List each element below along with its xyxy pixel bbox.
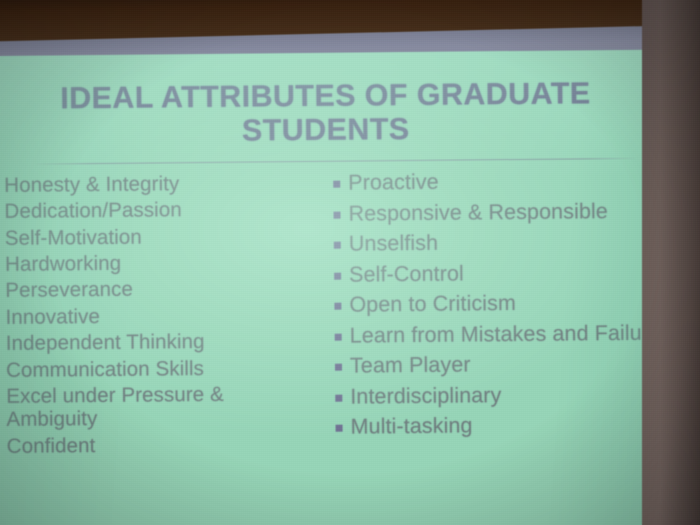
- wall-right-shadow: [660, 0, 700, 525]
- list-item-label: Innovative: [5, 305, 100, 329]
- list-item-label: Responsive & Responsible: [348, 199, 608, 226]
- list-item-label: Open to Criticism: [349, 291, 516, 317]
- bullet-square-icon: [334, 272, 341, 279]
- list-item-label: Independent Thinking: [6, 330, 205, 355]
- list-item-label: Hardworking: [5, 252, 121, 276]
- list-item: Dedication/Passion: [0, 197, 312, 223]
- projected-slide-photo: IDEAL ATTRIBUTES OF GRADUATE STUDENTS Ho…: [0, 0, 700, 525]
- list-item: Confident: [0, 432, 314, 458]
- list-item: Self-Motivation: [0, 224, 312, 250]
- list-item: Team Player: [335, 350, 673, 378]
- list-item-label: Multi-tasking: [350, 413, 472, 439]
- list-item-label: Excel under Pressure & Ambiguity: [6, 382, 313, 432]
- list-item: Hardworking: [0, 250, 312, 276]
- list-item-label: Confident: [7, 434, 96, 458]
- list-item-label: Perseverance: [5, 278, 133, 303]
- bullet-square-icon: [334, 303, 341, 310]
- bullet-square-icon: [333, 181, 340, 188]
- list-item: Unselfish: [334, 229, 672, 257]
- bullet-square-icon: [335, 394, 342, 401]
- list-item: Proactive: [333, 168, 671, 196]
- list-item: Innovative: [0, 303, 313, 329]
- list-item: Self-Control: [334, 259, 672, 287]
- list-item-label: Communication Skills: [6, 357, 204, 382]
- list-item-label: Learn from Mistakes and Failures: [350, 320, 672, 348]
- list-item: Excel under Pressure & Ambiguity: [0, 382, 314, 432]
- list-item-label: Dedication/Passion: [4, 199, 182, 224]
- slide-title: IDEAL ATTRIBUTES OF GRADUATE STUDENTS: [8, 76, 643, 150]
- list-item-label: Unselfish: [349, 231, 439, 256]
- title-divider-rule: [35, 158, 635, 165]
- bullet-square-icon: [335, 364, 342, 371]
- list-item-label: Self-Motivation: [5, 225, 142, 250]
- list-item-label: Team Player: [350, 352, 471, 378]
- bullet-square-icon: [335, 333, 342, 340]
- list-item: Open to Criticism: [334, 289, 672, 317]
- list-item: Communication Skills: [0, 355, 313, 381]
- right-bullet-column: Proactive Responsive & Responsible Unsel…: [311, 168, 674, 446]
- list-item-label: Self-Control: [349, 261, 464, 287]
- list-item: Learn from Mistakes and Failures: [335, 320, 673, 348]
- left-bullet-column: Honesty & Integrity Dedication/Passion S…: [0, 171, 314, 461]
- list-item: Interdisciplinary: [335, 381, 673, 409]
- slide-body-columns: Honesty & Integrity Dedication/Passion S…: [0, 168, 674, 461]
- list-item: Responsive & Responsible: [333, 198, 671, 226]
- list-item: Perseverance: [0, 276, 312, 302]
- list-item: Honesty & Integrity: [0, 171, 311, 197]
- bullet-square-icon: [334, 211, 341, 218]
- list-item-label: Proactive: [348, 170, 439, 195]
- list-item: Independent Thinking: [0, 329, 313, 355]
- list-item: Multi-tasking: [335, 411, 673, 439]
- bullet-square-icon: [334, 242, 341, 249]
- bullet-square-icon: [336, 425, 343, 432]
- presentation-slide: IDEAL ATTRIBUTES OF GRADUATE STUDENTS Ho…: [0, 50, 675, 525]
- list-item-label: Interdisciplinary: [350, 383, 501, 409]
- list-item-label: Honesty & Integrity: [4, 172, 179, 197]
